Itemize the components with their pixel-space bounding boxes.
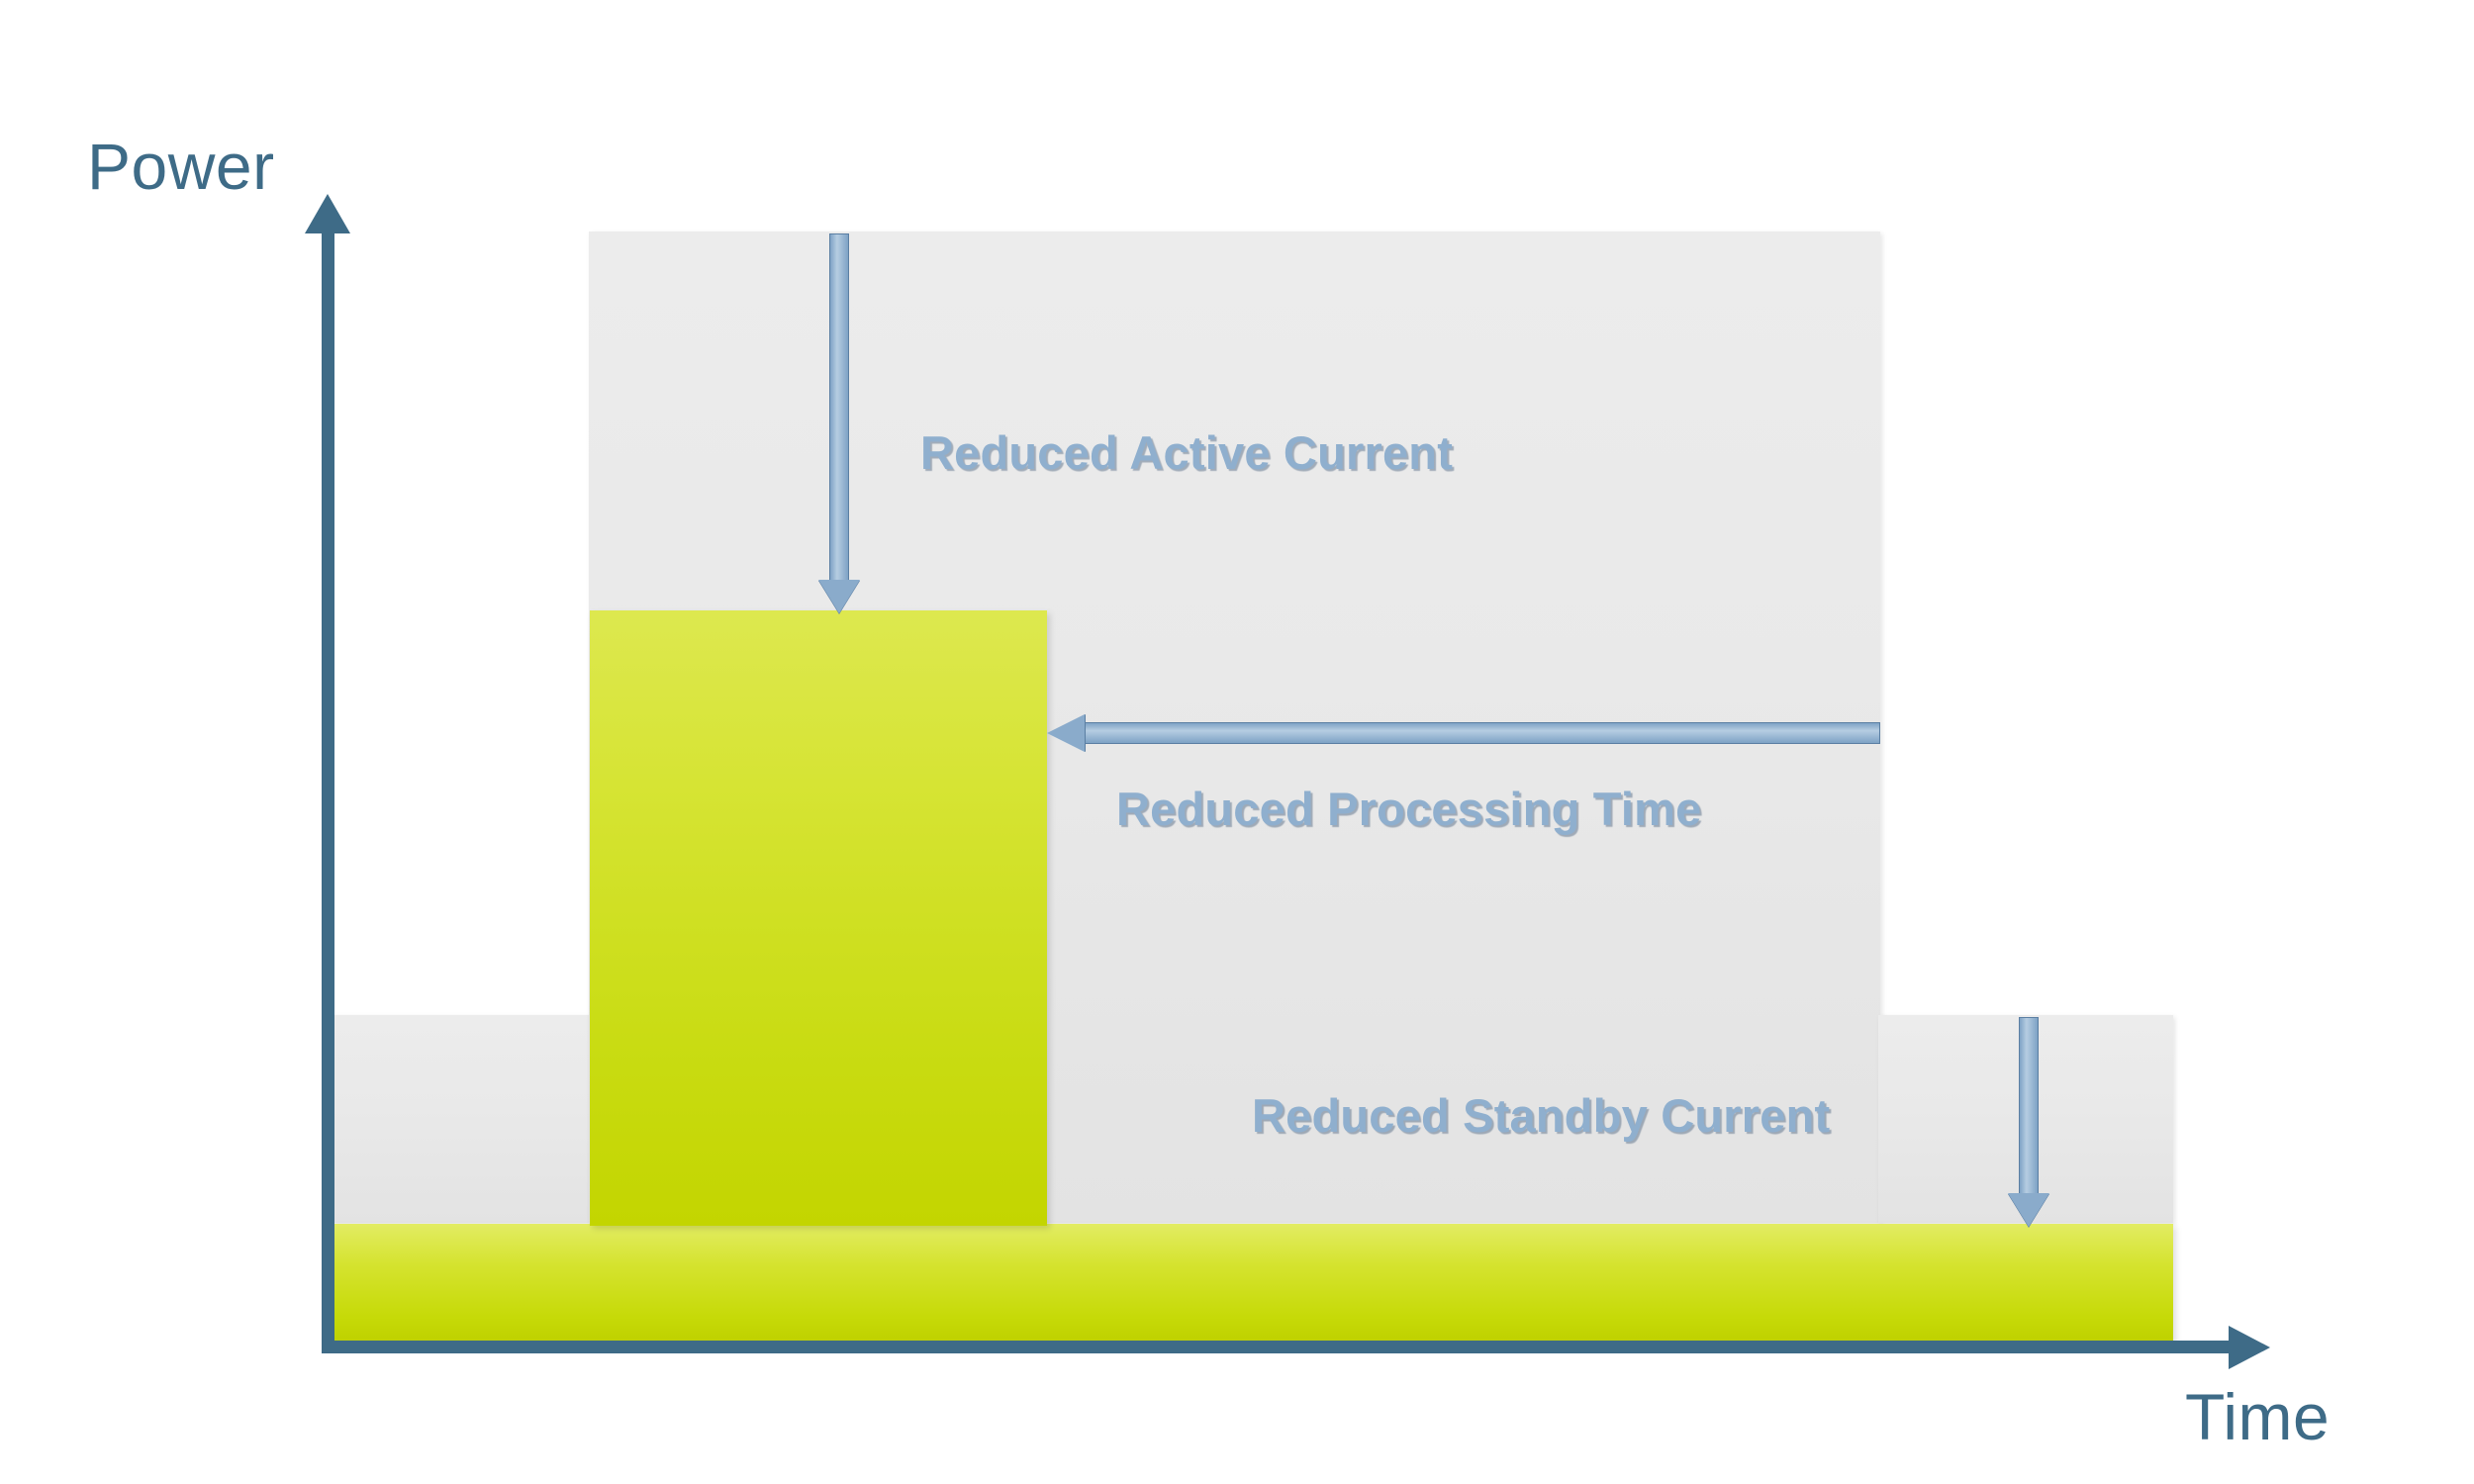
- down-arrow-icon-standby-current: [2019, 1017, 2039, 1227]
- arrow-head: [1047, 714, 1085, 752]
- down-arrow-icon-active-current: [829, 233, 849, 613]
- annotation-label-processing-time: Reduced Processing Time: [1116, 782, 1701, 836]
- y-axis-line: [322, 220, 334, 1347]
- arrow-shaft: [2019, 1017, 2039, 1195]
- annotation-label-active-current: Reduced Active Current: [920, 425, 1453, 480]
- arrow-head: [2008, 1193, 2049, 1227]
- arrow-head: [818, 580, 860, 613]
- y-axis-title: Power: [87, 129, 275, 204]
- arrow-shaft: [1083, 722, 1880, 744]
- x-axis-title: Time: [2185, 1379, 2330, 1454]
- reference-standby-before-block: [329, 1015, 591, 1223]
- x-axis-line: [322, 1341, 2241, 1353]
- arrow-shaft: [829, 233, 849, 582]
- power-profile-diagram: Reduced Active Current Reduced Processin…: [0, 0, 2474, 1484]
- x-axis-arrow-icon: [2229, 1326, 2270, 1369]
- left-arrow-icon-processing-time: [1047, 722, 1880, 744]
- annotation-label-standby-current: Reduced Standby Current: [1252, 1088, 1830, 1143]
- y-axis-arrow-icon: [305, 194, 350, 233]
- improved-active-bar: [590, 610, 1047, 1226]
- improved-standby-baseline-bar: [329, 1224, 2173, 1341]
